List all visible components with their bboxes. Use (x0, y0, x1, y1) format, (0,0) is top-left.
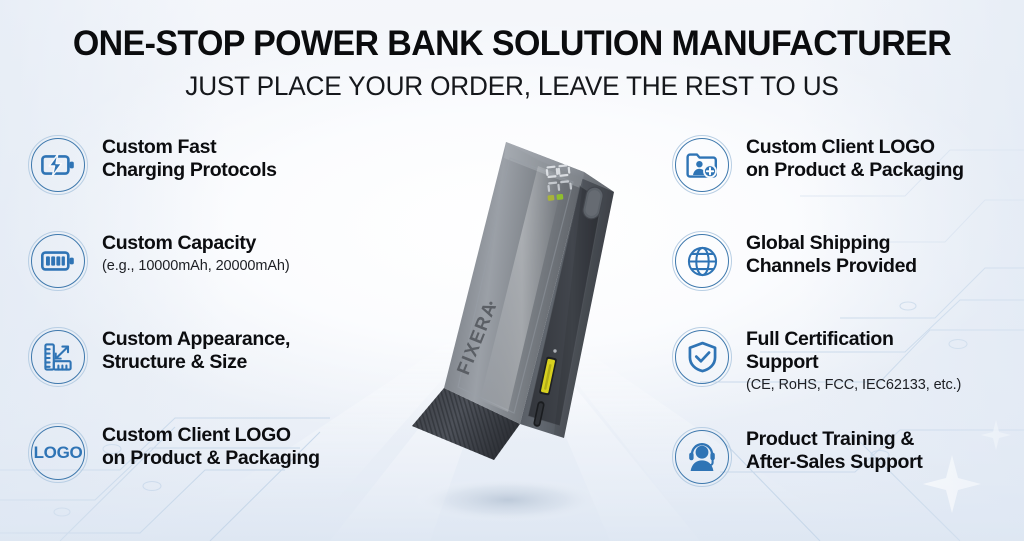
feature-full-certification: Full Certification Support (CE, RoHS, FC… (672, 324, 1022, 424)
feature-title: Custom Capacity (102, 232, 290, 255)
feature-title: Custom Appearance, Structure & Size (102, 328, 290, 374)
feature-text: Custom Client LOGO on Product & Packagin… (746, 132, 964, 182)
page-title: ONE-STOP POWER BANK SOLUTION MANUFACTURE… (15, 24, 1008, 64)
feature-text: Custom Appearance, Structure & Size (102, 324, 290, 374)
feature-custom-capacity: Custom Capacity (e.g., 10000mAh, 20000mA… (28, 228, 378, 324)
feature-title: Full Certification Support (746, 328, 961, 374)
logo-text-icon: LOGO (28, 423, 88, 483)
feature-text: Custom Fast Charging Protocols (102, 132, 277, 182)
feature-text: Global Shipping Channels Provided (746, 228, 917, 278)
folder-person-add-icon (672, 135, 732, 195)
logo-word-text: LOGO (34, 443, 83, 463)
battery-bolt-icon (28, 135, 88, 195)
ruler-measure-icon (28, 327, 88, 387)
feature-title: Custom Client LOGO on Product & Packagin… (746, 136, 964, 182)
feature-subtitle: (e.g., 10000mAh, 20000mAh) (102, 257, 290, 275)
features-left-column: Custom Fast Charging Protocols Custom Ca… (28, 132, 378, 516)
feature-custom-fast-charging: Custom Fast Charging Protocols (28, 132, 378, 228)
icon-glyph (28, 327, 88, 387)
page-subtitle: JUST PLACE YOUR ORDER, LEAVE THE REST TO… (15, 71, 1008, 102)
feature-title: Custom Fast Charging Protocols (102, 136, 277, 182)
feature-title: Product Training & After-Sales Support (746, 428, 922, 474)
icon-glyph (672, 427, 732, 487)
headset-support-icon (672, 427, 732, 487)
icon-glyph (672, 231, 732, 291)
battery-level-icon (28, 231, 88, 291)
feature-global-shipping: Global Shipping Channels Provided (672, 228, 1022, 324)
header: ONE-STOP POWER BANK SOLUTION MANUFACTURE… (0, 0, 1024, 102)
feature-text: Product Training & After-Sales Support (746, 424, 922, 474)
icon-glyph (28, 135, 88, 195)
feature-custom-client-logo-left: LOGO Custom Client LOGO on Product & Pac… (28, 420, 378, 516)
icon-glyph (672, 135, 732, 195)
feature-product-training-support: Product Training & After-Sales Support (672, 424, 1022, 520)
feature-title: Custom Client LOGO on Product & Packagin… (102, 424, 320, 470)
icon-glyph: LOGO (28, 423, 88, 483)
shield-check-icon (672, 327, 732, 387)
icon-glyph (28, 231, 88, 291)
feature-custom-client-logo-right: Custom Client LOGO on Product & Packagin… (672, 132, 1022, 228)
feature-text: Custom Capacity (e.g., 10000mAh, 20000mA… (102, 228, 290, 275)
feature-custom-appearance: Custom Appearance, Structure & Size (28, 324, 378, 420)
feature-text: Custom Client LOGO on Product & Packagin… (102, 420, 320, 470)
feature-title: Global Shipping Channels Provided (746, 232, 917, 278)
feature-subtitle: (CE, RoHS, FCC, IEC62133, etc.) (746, 376, 961, 394)
icon-glyph (672, 327, 732, 387)
features-right-column: Custom Client LOGO on Product & Packagin… (672, 132, 1022, 520)
globe-icon (672, 231, 732, 291)
feature-text: Full Certification Support (CE, RoHS, FC… (746, 324, 961, 395)
power-bank-product-image: FIXERA (388, 108, 638, 528)
